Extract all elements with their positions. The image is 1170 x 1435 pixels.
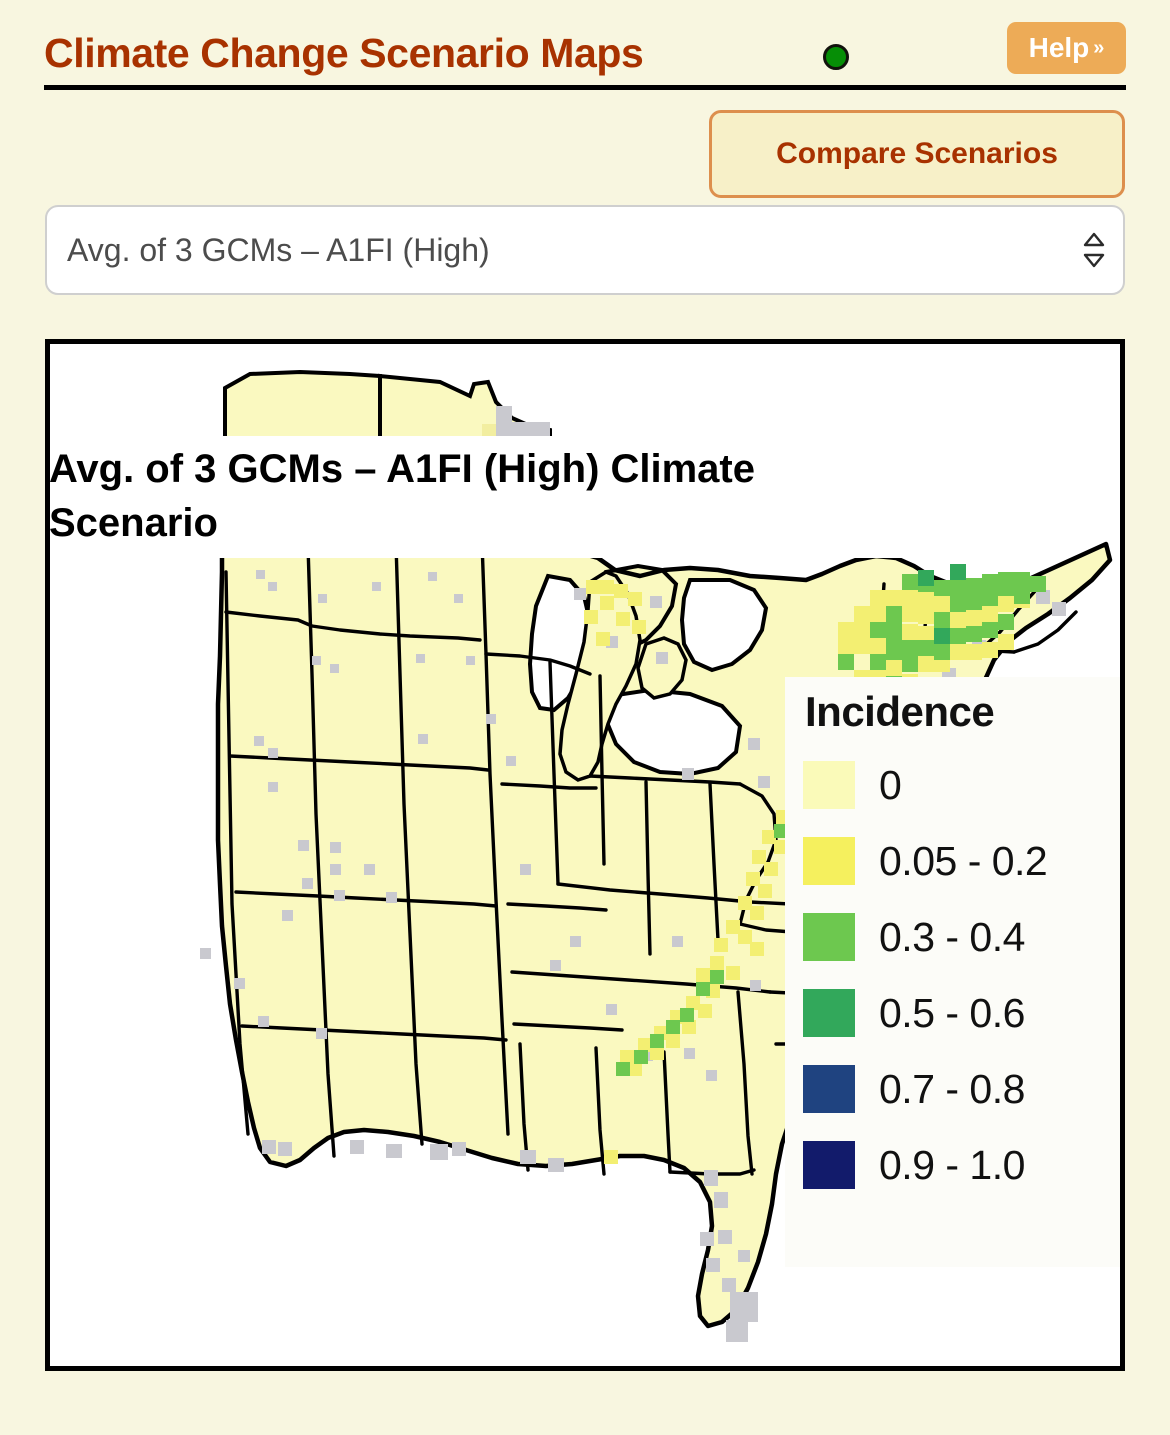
legend-swatch-4: [803, 1065, 855, 1113]
double-chevron-right-icon: »: [1093, 37, 1104, 60]
chevron-up-down-icon[interactable]: [1065, 230, 1123, 270]
scenario-select[interactable]: Avg. of 3 GCMs – A1FI (High): [45, 205, 1125, 295]
compare-scenarios-label: Compare Scenarios: [776, 137, 1058, 171]
legend-label-4: 0.7 - 0.8: [879, 1066, 1025, 1113]
legend-item: 0.5 - 0.6: [803, 975, 1125, 1051]
help-button[interactable]: Help »: [1007, 22, 1126, 74]
help-button-label: Help: [1029, 32, 1090, 64]
compare-scenarios-button[interactable]: Compare Scenarios: [709, 110, 1125, 198]
status-indicator-dot: [823, 44, 849, 70]
page-title: Climate Change Scenario Maps: [44, 26, 643, 80]
page-header: Climate Change Scenario Maps Help »: [44, 26, 1126, 90]
legend-item: 0.7 - 0.8: [803, 1051, 1125, 1127]
legend-swatch-0: [803, 761, 855, 809]
legend-title: Incidence: [805, 691, 1125, 733]
scenario-select-value: Avg. of 3 GCMs – A1FI (High): [47, 232, 1065, 269]
legend-swatch-5: [803, 1141, 855, 1189]
legend-item: 0.9 - 1.0: [803, 1127, 1125, 1203]
legend-label-5: 0.9 - 1.0: [879, 1142, 1025, 1189]
legend-swatch-1: [803, 837, 855, 885]
legend-item: 0.3 - 0.4: [803, 899, 1125, 975]
map-title: Avg. of 3 GCMs – A1FI (High) Climate Sce…: [49, 436, 909, 558]
legend-swatch-2: [803, 913, 855, 961]
legend-item: 0.05 - 0.2: [803, 823, 1125, 899]
legend-label-1: 0.05 - 0.2: [879, 838, 1047, 885]
map-legend: Incidence 0 0.05 - 0.2 0.3 - 0.4 0.5 - 0…: [785, 677, 1125, 1267]
legend-label-3: 0.5 - 0.6: [879, 990, 1025, 1037]
legend-item: 0: [803, 747, 1125, 823]
legend-label-0: 0: [879, 762, 901, 809]
map-panel[interactable]: Avg. of 3 GCMs – A1FI (High) Climate Sce…: [45, 339, 1125, 1371]
legend-swatch-3: [803, 989, 855, 1037]
legend-label-2: 0.3 - 0.4: [879, 914, 1025, 961]
